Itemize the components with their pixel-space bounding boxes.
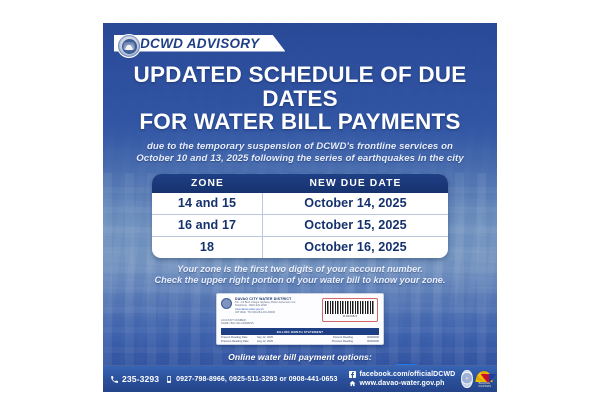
cell-due-date: October 14, 2025 — [263, 193, 448, 214]
screenshot-canvas: DCWD ADVISORY UPDATED SCHEDULE OF DUE DA… — [0, 0, 600, 400]
bill-name-address-label: NAME / BILLING ADDRESS — [221, 322, 379, 325]
footer-facebook[interactable]: facebook.com/officialDCWD — [349, 371, 455, 378]
table-header-row: ZONE NEW DUE DATE — [152, 174, 448, 193]
column-header-new-due-date: NEW DUE DATE — [263, 174, 448, 193]
footer-website-text: www.davao-water.gov.ph — [359, 380, 444, 387]
table-row: 14 and 15 October 14, 2025 — [152, 193, 448, 215]
dcwd-seal-icon — [461, 370, 472, 388]
page-title: UPDATED SCHEDULE OF DUE DATES FOR WATER … — [117, 63, 483, 134]
subheading-line-1: due to the temporary suspension of DCWD'… — [129, 141, 471, 153]
bill-value-2: 00000000 — [353, 340, 379, 344]
headline-line-1: UPDATED SCHEDULE OF DUE DATES — [134, 62, 467, 111]
barcode-bars-icon — [325, 301, 375, 314]
bill-value: Aug 12, 2025 — [257, 340, 277, 344]
footer-mobile-numbers: 0927-798-8966, 0925-511-3293 or 0908-441… — [176, 376, 337, 383]
note-line-2: Check the upper right portion of your wa… — [123, 275, 477, 287]
column-header-zone: ZONE — [152, 174, 263, 193]
footer-phone-number: 235-3293 — [122, 374, 159, 384]
zone-instruction-note: Your zone is the first two digits of you… — [123, 264, 477, 287]
home-icon — [349, 380, 356, 387]
headline-line-2: FOR WATER BILL PAYMENTS — [117, 110, 483, 134]
barcode-number: 1100005/2 — [343, 315, 358, 318]
facebook-icon — [349, 371, 356, 378]
bill-label-2: Previous Reading — [277, 340, 353, 344]
footer-facebook-text: facebook.com/officialDCWD — [359, 371, 455, 378]
bill-billing-strip: BILLING MONTH STATEMENT — [221, 328, 379, 334]
cell-zone: 16 and 17 — [152, 215, 263, 236]
footer-web-links: facebook.com/officialDCWD www.davao-wate… — [349, 371, 455, 387]
footer-mobile: 0927-798-8966, 0925-511-3293 or 0908-441… — [165, 375, 337, 384]
bill-detail-row: Previous Reading Date Aug 12, 2025 Previ… — [221, 340, 379, 344]
mobile-phone-icon — [165, 375, 173, 384]
payment-options-label: Online water bill payment options: — [103, 352, 497, 362]
advisory-ribbon-label: DCWD ADVISORY — [140, 36, 259, 51]
bagong-pilipinas-icon: BAGONG PILIPINAS — [479, 370, 490, 388]
note-line-1: Your zone is the first two digits of you… — [123, 264, 477, 276]
footer-website[interactable]: www.davao-water.gov.ph — [349, 380, 455, 387]
bagong-pilipinas-caption: BAGONG PILIPINAS — [479, 382, 490, 388]
subheading-line-2: October 10 and 13, 2025 following the se… — [129, 153, 471, 165]
dcwd-advisory-poster: DCWD ADVISORY UPDATED SCHEDULE OF DUE DA… — [103, 23, 497, 392]
bill-seal-icon — [221, 298, 232, 309]
footer-phone: 235-3293 — [110, 374, 159, 384]
phone-icon — [110, 375, 119, 384]
sample-water-bill-image: DAVAO CITY WATER DISTRICT Km. 1-5 Blvd. … — [216, 293, 384, 345]
table-row: 16 and 17 October 15, 2025 — [152, 215, 448, 237]
cell-due-date: October 16, 2025 — [263, 237, 448, 258]
dcwd-seal-icon — [117, 34, 141, 58]
footer-contact-bar: 235-3293 0927-798-8966, 0925-511-3293 or… — [103, 365, 497, 392]
cell-due-date: October 15, 2025 — [263, 215, 448, 236]
bill-label: Previous Reading Date — [221, 340, 257, 344]
bill-barcode: 1100005/2 — [322, 298, 378, 322]
cell-zone: 14 and 15 — [152, 193, 263, 214]
cell-zone: 18 — [152, 237, 263, 258]
table-row: 18 October 16, 2025 — [152, 237, 448, 258]
due-date-table: ZONE NEW DUE DATE 14 and 15 October 14, … — [152, 174, 448, 258]
advisory-ribbon: DCWD ADVISORY — [114, 32, 285, 54]
subheading: due to the temporary suspension of DCWD'… — [129, 141, 471, 166]
